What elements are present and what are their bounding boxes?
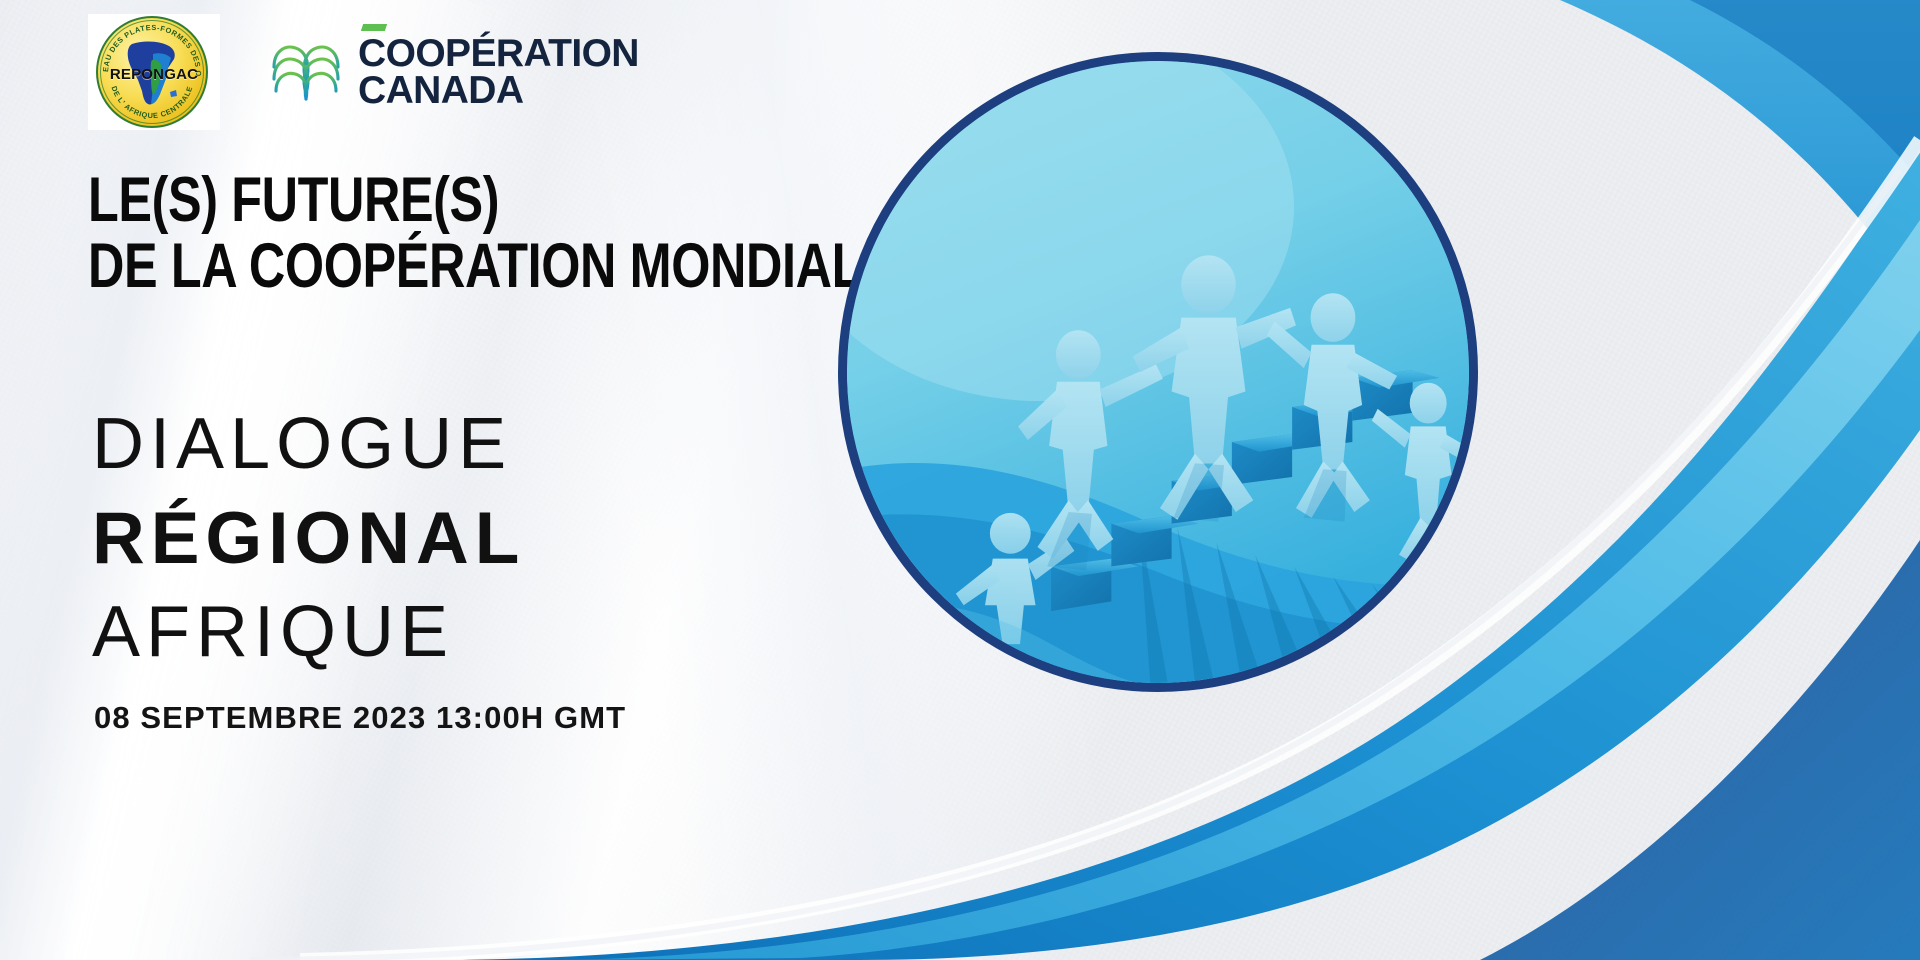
subtitle-regional: RÉGIONAL	[92, 492, 525, 587]
circular-photo	[838, 52, 1478, 692]
cooperation-canada-wordmark: COOPÉRATION CANADA	[358, 35, 639, 110]
subtitle-dialogue: DIALOGUE	[92, 398, 525, 492]
logo-row: RÉSEAU DES PLATES-FORMES DES ONG DE L' A…	[88, 14, 639, 130]
poster-canvas: RÉSEAU DES PLATES-FORMES DES ONG DE L' A…	[0, 0, 1920, 960]
cc-line-2: CANADA	[358, 72, 639, 109]
headline-line-1: LE(S) FUTURE(S)	[88, 168, 895, 234]
subtitle-afrique: AFRIQUE	[92, 586, 525, 680]
cc-line-1: COOPÉRATION	[358, 35, 639, 72]
headline-line-2: DE LA COOPÉRATION MONDIALE	[88, 234, 895, 300]
paper-people-illustration	[847, 61, 1469, 683]
cooperation-canada-logo: COOPÉRATION CANADA	[270, 35, 639, 110]
circular-photo-ring	[838, 52, 1478, 692]
repongac-acronym: REPONGAC	[88, 66, 220, 83]
subtitle-block: DIALOGUE RÉGIONAL AFRIQUE	[92, 398, 525, 680]
event-date-time: 08 SEPTEMBRE 2023 13:00H GMT	[94, 700, 626, 736]
svg-text:DE L' AFRIQUE CENTRALE: DE L' AFRIQUE CENTRALE	[110, 85, 195, 120]
repongac-logo: RÉSEAU DES PLATES-FORMES DES ONG DE L' A…	[88, 14, 220, 130]
cooperation-canada-mark-icon	[270, 39, 342, 105]
paper-people-climbing-stairs	[847, 61, 1469, 683]
